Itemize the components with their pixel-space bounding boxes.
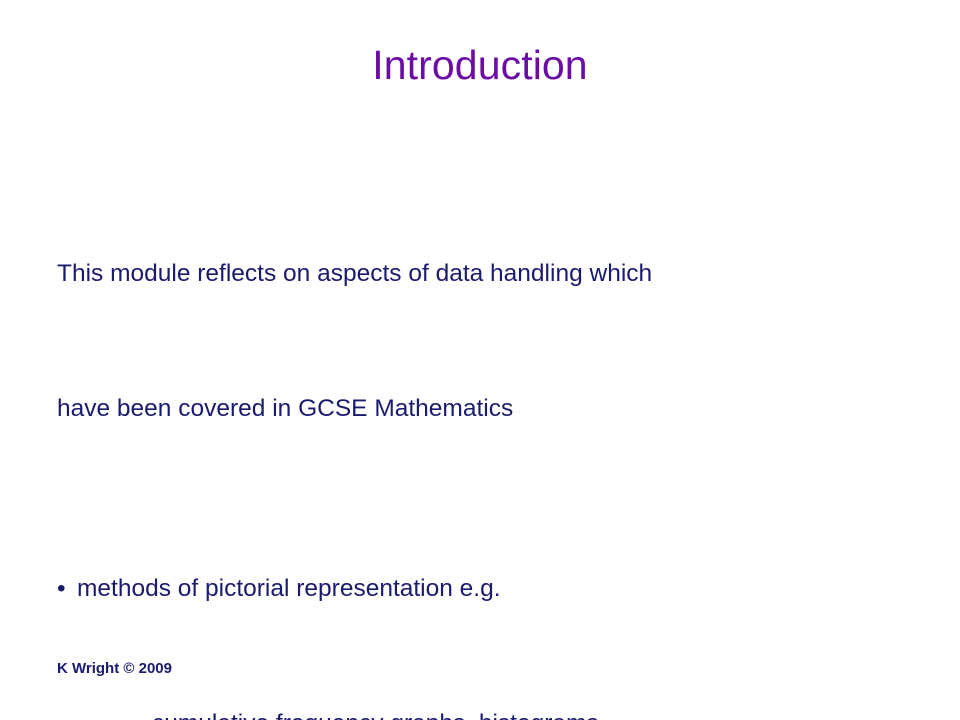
bullet-item-pictorial: • methods of pictorial representation e.… xyxy=(57,566,917,611)
page-title: Introduction xyxy=(0,44,960,87)
footer-credit: K Wright © 2009 xyxy=(57,659,172,679)
intro-paragraph-line-1: This module reflects on aspects of data … xyxy=(57,251,917,296)
bullet-dot-icon: • xyxy=(57,566,77,611)
slide-canvas: Introduction This module reflects on asp… xyxy=(0,0,960,720)
slide-body: This module reflects on aspects of data … xyxy=(57,116,917,720)
bullet-label-pictorial: methods of pictorial representation e.g. xyxy=(77,566,501,611)
bullet-example-pictorial: cumulative frequency graphs, histograms xyxy=(57,701,917,720)
intro-paragraph-line-2: have been covered in GCSE Mathematics xyxy=(57,386,917,431)
